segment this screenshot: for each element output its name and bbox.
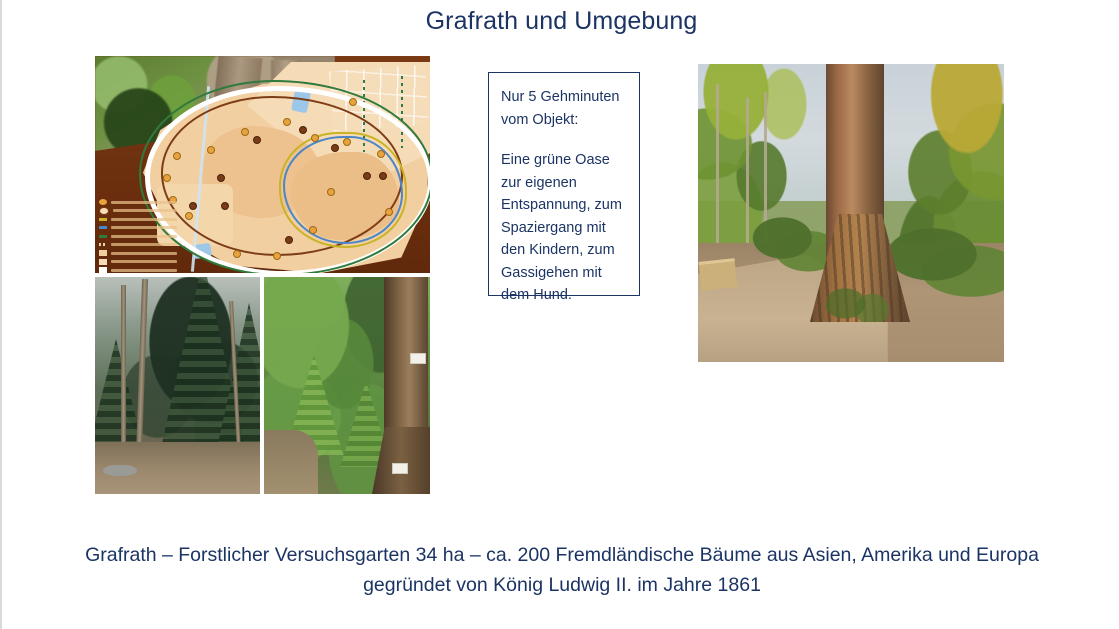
map-poi-marker xyxy=(343,138,351,146)
map-poi-marker-dark xyxy=(189,202,197,210)
map-poi-marker xyxy=(233,250,241,258)
legend-swatch-station-icon xyxy=(99,199,107,205)
tree-label-sign xyxy=(392,463,408,474)
map-legend xyxy=(99,198,177,270)
map-poi-marker xyxy=(207,146,215,154)
map-poi-marker xyxy=(311,134,319,142)
legend-swatch-other-area-icon xyxy=(99,259,107,265)
map-poi-marker-dark xyxy=(299,126,307,134)
legend-item xyxy=(99,258,177,266)
map-poi-marker xyxy=(185,212,193,220)
legend-swatch-monument-icon xyxy=(99,207,109,215)
legend-item xyxy=(99,249,177,257)
map-poi-marker xyxy=(327,188,335,196)
map-poi-marker xyxy=(241,128,249,136)
legend-swatch-inner-loop-icon xyxy=(99,218,107,221)
winter-forest-image xyxy=(95,277,260,494)
info-callout-box: Nur 5 Gehminuten vom Objekt: Eine grüne … xyxy=(488,72,640,296)
legend-swatch-outer-loop-icon xyxy=(99,235,107,238)
legend-swatch-boundary-icon xyxy=(99,243,107,246)
tree-label-sign xyxy=(410,353,426,364)
map-poi-marker-dark xyxy=(363,172,371,180)
map-poi-marker-dark xyxy=(221,202,229,210)
map-poi-marker xyxy=(377,150,385,158)
summer-forest-image xyxy=(264,277,430,494)
map-poi-marker-dark xyxy=(253,136,261,144)
winter-tree-trunk xyxy=(121,285,126,455)
summer-forest-path xyxy=(264,430,318,494)
big-tree-image xyxy=(698,64,1004,362)
slide-caption: Grafrath – Forstlicher Versuchsgarten 34… xyxy=(72,540,1052,600)
map-poi-marker-dark xyxy=(379,172,387,180)
legend-item xyxy=(99,215,177,223)
slide-canvas: Grafrath und Umgebung xyxy=(0,0,1119,629)
undergrowth-left xyxy=(748,214,834,274)
map-poi-marker xyxy=(163,174,171,182)
page-title: Grafrath und Umgebung xyxy=(2,7,1119,36)
map-poi-marker xyxy=(273,252,281,260)
map-poi-marker xyxy=(349,98,357,106)
winter-rock xyxy=(103,465,137,476)
background-tree-stem xyxy=(716,84,719,254)
map-poi-marker-dark xyxy=(217,174,225,182)
legend-item xyxy=(99,266,177,273)
callout-paragraph-2: Eine grüne Oase zur eigenen Entspannung,… xyxy=(501,149,627,307)
map-poi-marker-dark xyxy=(331,144,339,152)
map-poi-marker xyxy=(309,226,317,234)
callout-paragraph-1: Nur 5 Gehminuten vom Objekt: xyxy=(501,86,627,131)
legend-item xyxy=(99,207,177,215)
map-poi-marker-dark xyxy=(285,236,293,244)
map-poi-marker xyxy=(283,118,291,126)
legend-item xyxy=(99,232,177,240)
map-poi-marker xyxy=(173,152,181,160)
wooden-bench xyxy=(699,258,738,291)
caption-line-1: Grafrath – Forstlicher Versuchsgarten 34… xyxy=(85,544,971,566)
map-poi-marker xyxy=(385,208,393,216)
legend-item xyxy=(99,198,177,206)
legend-item xyxy=(99,224,177,232)
legend-swatch-barrier-free-icon xyxy=(99,226,107,229)
legend-swatch-building-icon xyxy=(99,267,107,273)
legend-item xyxy=(99,241,177,249)
legend-swatch-forest-area-icon xyxy=(99,250,107,256)
map-image xyxy=(95,56,430,273)
map-graphic xyxy=(95,56,430,273)
